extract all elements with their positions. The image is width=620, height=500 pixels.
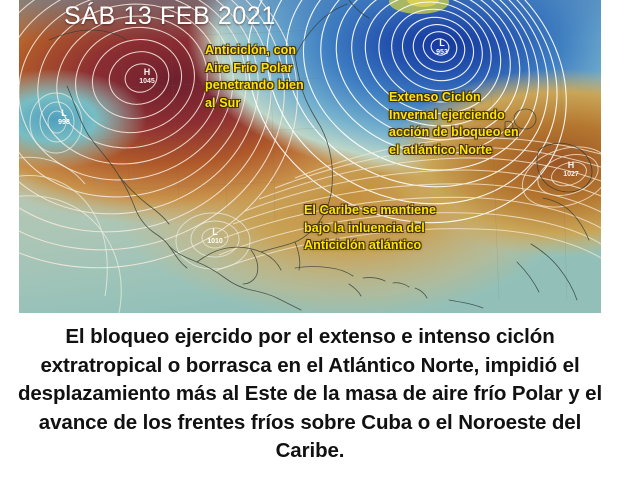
annotation-caribbean: El Caribe se mantiene bajo la inluencia … (304, 202, 514, 255)
caption-block: El bloqueo ejercido por el extenso e int… (0, 313, 620, 500)
surface-pressure-map: SÁB 13 FEB 2021 Anticiclón, con Aire Frí… (19, 0, 601, 313)
annotation-anticyclone: Anticiclón, con Aire Frío Polar penetran… (205, 42, 355, 112)
weather-map-infographic: SÁB 13 FEB 2021 Anticiclón, con Aire Frí… (0, 0, 620, 500)
date-stamp: SÁB 13 FEB 2021 (64, 2, 276, 31)
caption-text: El bloqueo ejercido por el extenso e int… (0, 323, 620, 466)
annotation-cyclone: Extenso Ciclón Invernal ejerciendo acció… (389, 89, 579, 159)
